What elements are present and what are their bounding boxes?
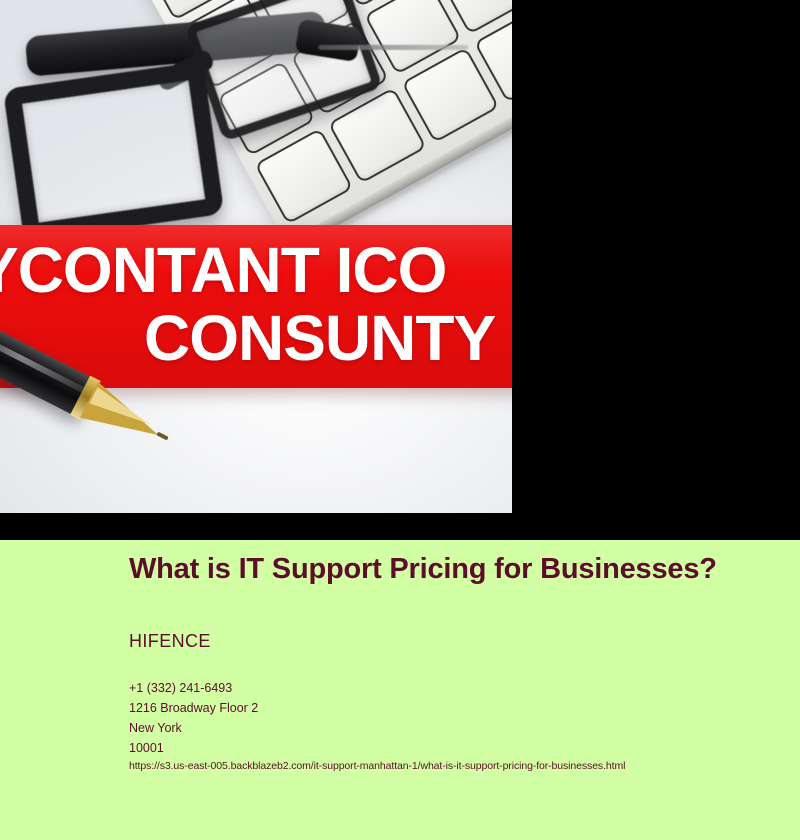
eyeglasses-temple-wire bbox=[318, 45, 468, 50]
page-title: What is IT Support Pricing for Businesse… bbox=[129, 554, 729, 585]
brand-name: HIFENCE bbox=[129, 631, 211, 652]
hero-band: YCONTANT ICO CONSUNTY bbox=[0, 0, 800, 540]
page-root: YCONTANT ICO CONSUNTY What is IT Support… bbox=[0, 0, 800, 840]
source-url[interactable]: https://s3.us-east-005.backblazeb2.com/i… bbox=[129, 760, 625, 772]
contact-block: +1 (332) 241-6493 1216 Broadway Floor 2 … bbox=[129, 678, 258, 758]
sign-text-line-2: CONSUNTY bbox=[144, 305, 495, 371]
contact-city: New York bbox=[129, 718, 258, 738]
content-area: What is IT Support Pricing for Businesse… bbox=[0, 540, 800, 840]
contact-street: 1216 Broadway Floor 2 bbox=[129, 698, 258, 718]
eyeglasses-right-lens bbox=[184, 0, 383, 142]
hero-photo: YCONTANT ICO CONSUNTY bbox=[0, 0, 512, 513]
contact-zip: 10001 bbox=[129, 738, 258, 758]
contact-phone[interactable]: +1 (332) 241-6493 bbox=[129, 678, 258, 698]
sign-text-line-1: YCONTANT ICO bbox=[0, 237, 446, 303]
eyeglasses-left-lens bbox=[3, 61, 224, 242]
